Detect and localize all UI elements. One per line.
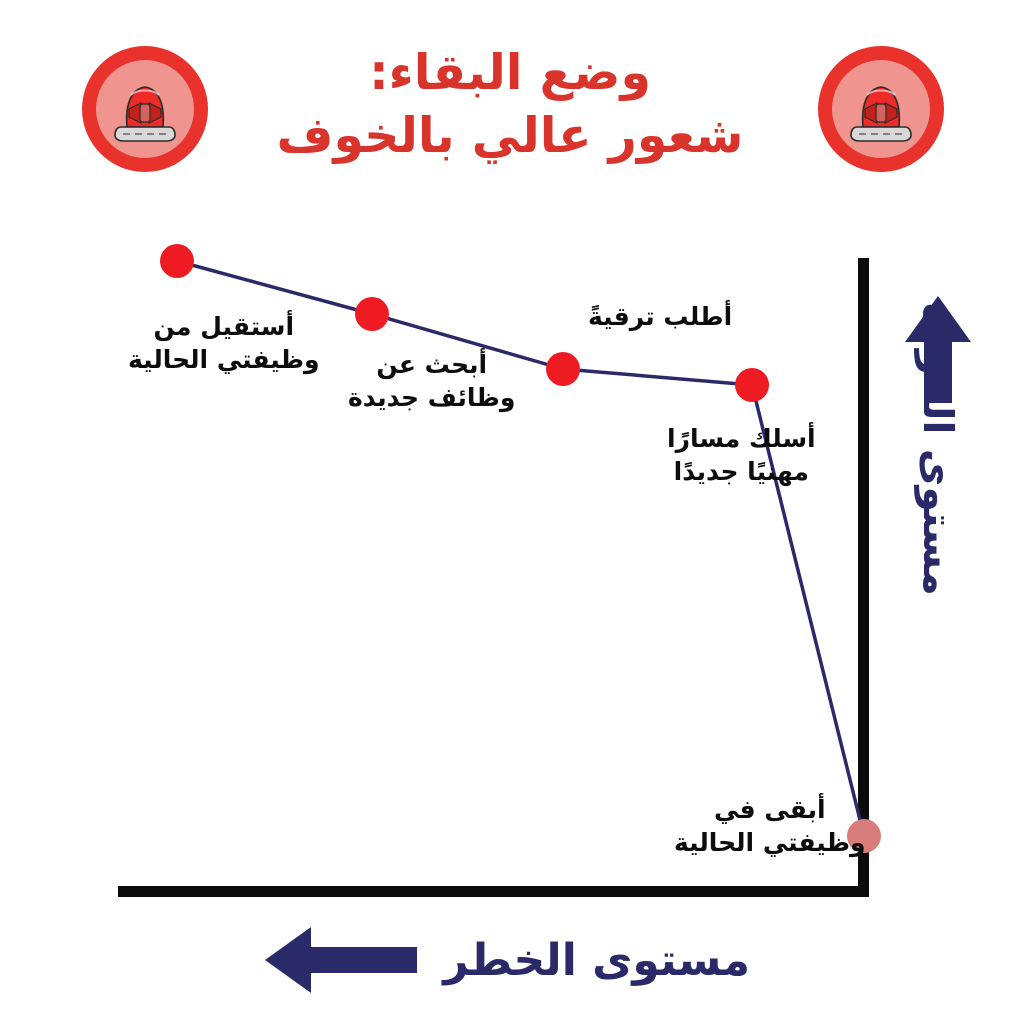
data-point-marker-2[interactable] <box>355 297 389 331</box>
y-axis-caption: مستوى الخوف <box>880 296 996 856</box>
arrow-left-icon <box>265 927 417 993</box>
y-axis-label: مستوى الخوف <box>914 302 962 596</box>
x-axis-label: مستوى الخطر <box>443 935 750 986</box>
page-title: وضع البقاء: شعور عالي بالخوف <box>230 42 790 167</box>
data-point-marker-3[interactable] <box>546 352 580 386</box>
title-line-2: شعور عالي بالخوف <box>230 105 790 168</box>
emergency-siren-icon-left <box>82 46 208 172</box>
data-point-marker-4[interactable] <box>735 368 769 402</box>
data-point-label-4: أسلك مسارًا مهنيًا جديدًا <box>667 422 816 488</box>
x-axis-line <box>118 886 869 897</box>
arrow-left-head <box>265 927 311 993</box>
x-axis-caption: مستوى الخطر <box>150 918 750 1002</box>
data-point-label-3: أطلب ترقيةً <box>588 300 732 333</box>
data-point-label-5: أبقى في وظيفتي الحالية <box>674 793 866 859</box>
siren-glyph <box>833 61 929 157</box>
arrow-left-stem <box>309 947 417 973</box>
emergency-siren-icon-right <box>818 46 944 172</box>
siren-glyph <box>97 61 193 157</box>
title-line-1: وضع البقاء: <box>230 42 790 105</box>
data-point-marker-1[interactable] <box>160 244 194 278</box>
data-point-label-2: أبحث عن وظائف جديدة <box>348 348 515 414</box>
infographic-canvas: وضع البقاء: شعور عالي بالخوف أستقيل من و… <box>0 0 1024 1024</box>
data-point-label-1: أستقيل من وظيفتي الحالية <box>128 310 320 376</box>
